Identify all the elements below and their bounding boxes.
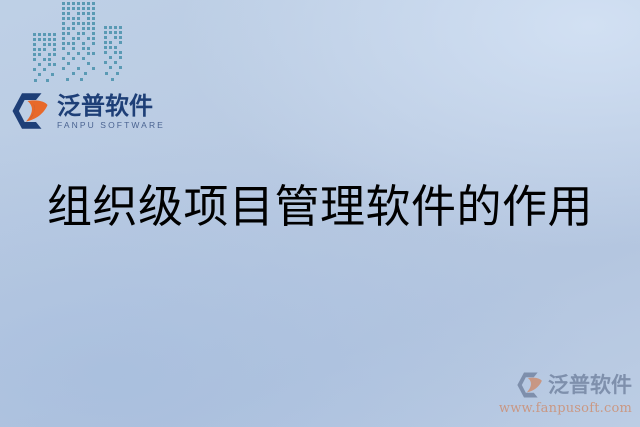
brand-name-cn: 泛普软件	[57, 94, 165, 118]
brand-name-en: FANPU SOFTWARE	[57, 121, 165, 130]
watermark-name-cn: 泛普软件	[548, 375, 632, 396]
page-title: 组织级项目管理软件的作用	[0, 178, 640, 236]
fanpu-hexagon-logo-mark-icon	[11, 91, 53, 131]
slide-canvas: 泛普软件 FANPU SOFTWARE 组织级项目管理软件的作用 泛普软件 ww…	[0, 0, 640, 427]
brand-wordmark: 泛普软件 FANPU SOFTWARE	[57, 93, 165, 130]
watermark-url: www.fanpusoft.com	[499, 402, 632, 415]
fanpu-watermark-logo-mark-icon	[516, 371, 546, 399]
watermark: 泛普软件 www.fanpusoft.com	[488, 371, 632, 415]
watermark-logo-row: 泛普软件	[516, 371, 632, 399]
brand-logo: 泛普软件 FANPU SOFTWARE	[11, 88, 161, 134]
pixelated-cityscape-graphic	[22, 0, 142, 86]
